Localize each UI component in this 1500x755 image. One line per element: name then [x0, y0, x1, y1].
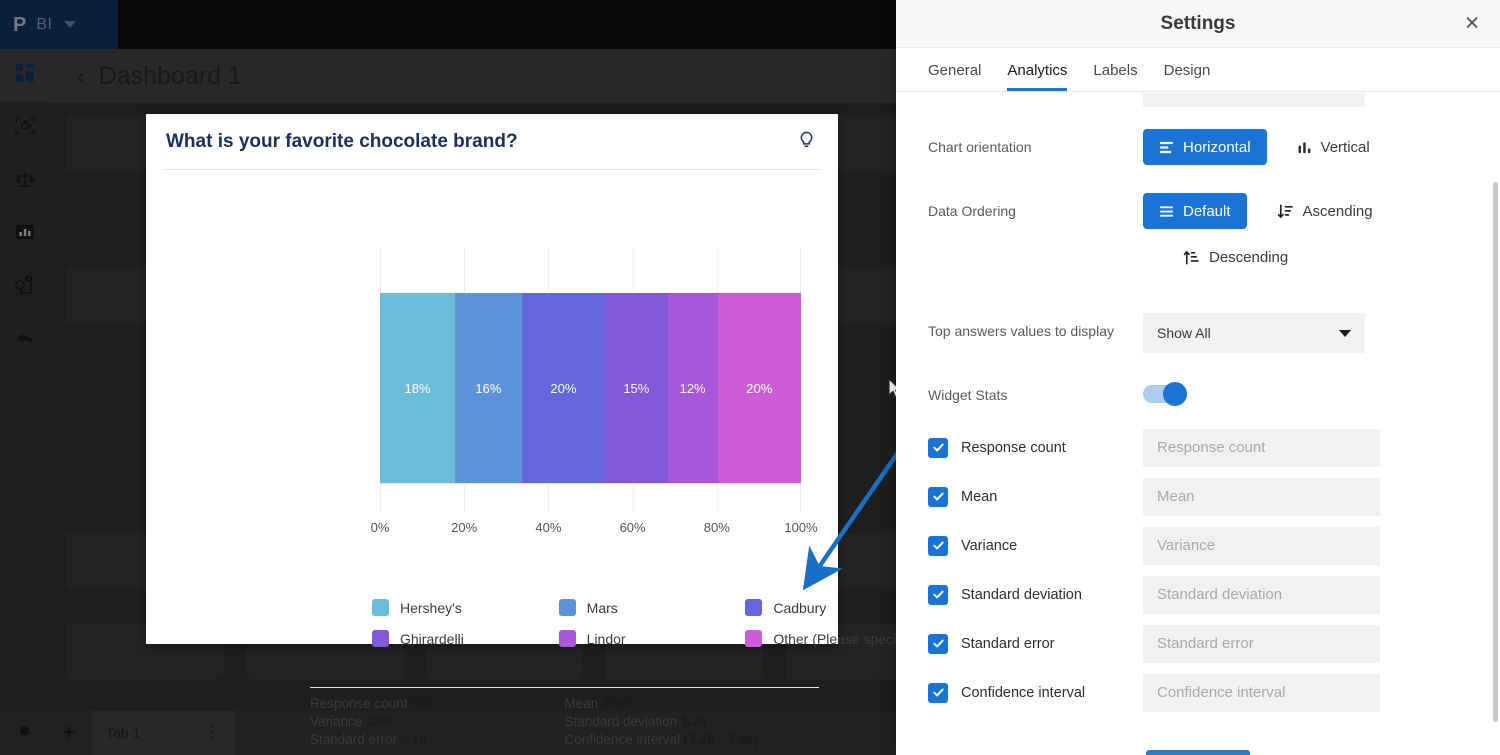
- legend-swatch: [372, 630, 389, 647]
- stacked-bar-series: 18%16%20%15%12%20%: [380, 293, 801, 483]
- checkbox-checked-icon: [928, 634, 948, 654]
- bar-segment[interactable]: 12%: [668, 293, 718, 483]
- stat-label: Variance: [310, 714, 366, 729]
- stat-line: Standard deviation 1.75: [565, 714, 820, 729]
- checkbox-checked-icon: [928, 438, 948, 458]
- stat-setting-row: Standard deviation: [928, 570, 1468, 619]
- stat-checkbox-label: Confidence interval: [961, 685, 1085, 701]
- stats-column-right: Mean 3.46Standard deviation 1.75Confiden…: [565, 696, 820, 747]
- stat-line: Confidence interval [3.26 - 3.66]: [565, 732, 820, 747]
- stat-line: Variance 3.08: [310, 714, 565, 729]
- stat-checkbox-response-count[interactable]: Response count: [928, 438, 1143, 458]
- widget-stats-rows: Response countMeanVarianceStandard devia…: [928, 423, 1468, 717]
- stat-alias-input-response-count[interactable]: [1143, 429, 1380, 467]
- top-answers-control: Show All: [1143, 313, 1468, 353]
- legend-item[interactable]: Lindor: [559, 630, 746, 647]
- orientation-option-horizontal[interactable]: Horizontal: [1143, 129, 1267, 165]
- x-axis-tick-label: 40%: [535, 520, 561, 535]
- widget-header: What is your favorite chocolate brand?: [146, 114, 838, 169]
- stat-line: Mean 3.46: [565, 696, 820, 711]
- x-axis-tick-label: 60%: [620, 520, 646, 535]
- stat-alias-input-confidence-interval[interactable]: [1143, 674, 1380, 712]
- clipped-setting-row: [928, 93, 1468, 107]
- stats-column-left: Response count 300Variance 3.08Standard …: [310, 696, 565, 747]
- tab-design[interactable]: Design: [1164, 62, 1211, 91]
- setting-row-data-ordering: Data Ordering Default Ascending: [928, 193, 1468, 275]
- stat-setting-row: Confidence interval: [928, 668, 1468, 717]
- legend-label: Cadbury: [773, 600, 826, 616]
- stat-label: Response count: [310, 696, 411, 711]
- x-axis-tick-label: 0%: [371, 520, 390, 535]
- stat-value: 1.75: [681, 714, 707, 729]
- bar-segment[interactable]: 20%: [522, 293, 605, 483]
- chart-plot: 18%16%20%15%12%20%: [380, 248, 801, 512]
- legend-swatch: [559, 599, 576, 616]
- stat-value: 3.46: [602, 696, 628, 711]
- data-ordering-label: Data Ordering: [928, 193, 1143, 219]
- settings-panel-body: Chart orientation Horizontal Vertical: [896, 93, 1500, 755]
- bar-segment[interactable]: 16%: [455, 293, 522, 483]
- close-icon[interactable]: ✕: [1464, 14, 1480, 33]
- top-answers-value: Show All: [1157, 325, 1211, 341]
- list-lines-icon: [1159, 204, 1174, 219]
- x-axis-tick-label: 100%: [784, 520, 817, 535]
- tab-general[interactable]: General: [928, 62, 981, 91]
- checkbox-checked-icon: [928, 585, 948, 605]
- stat-checkbox-label: Response count: [961, 440, 1066, 456]
- x-axis-tick-label: 20%: [451, 520, 477, 535]
- stat-value: 3.08: [366, 714, 392, 729]
- stat-checkbox-label: Standard error: [961, 636, 1055, 652]
- legend-item[interactable]: Mars: [559, 599, 746, 616]
- orientation-horizontal-label: Horizontal: [1183, 139, 1251, 156]
- stat-checkbox-variance[interactable]: Variance: [928, 536, 1143, 556]
- stat-alias-input-standard-error[interactable]: [1143, 625, 1380, 663]
- settings-panel-header: Settings ✕: [896, 0, 1500, 48]
- setting-row-chart-orientation: Chart orientation Horizontal Vertical: [928, 129, 1468, 171]
- widget-footer-divider: [310, 687, 819, 688]
- apply-button-partial[interactable]: [1146, 750, 1250, 755]
- stat-setting-row: Standard error: [928, 619, 1468, 668]
- stat-setting-row: Mean: [928, 472, 1468, 521]
- chevron-down-icon: [1339, 330, 1351, 337]
- legend-swatch: [372, 599, 389, 616]
- tab-labels[interactable]: Labels: [1093, 62, 1137, 91]
- app-root: P BI: [0, 0, 1500, 755]
- ordering-default-label: Default: [1183, 203, 1231, 220]
- legend-label: Hershey's: [400, 600, 462, 616]
- widget-stats-label: Widget Stats: [928, 385, 1143, 403]
- chart-plot-area: 18%16%20%15%12%20% 0%20%40%60%80%100%: [166, 170, 818, 510]
- ordering-option-default[interactable]: Default: [1143, 193, 1247, 229]
- legend-label: Other (Please specify): [773, 631, 912, 647]
- x-axis-ticks: 0%20%40%60%80%100%: [380, 520, 801, 538]
- legend-swatch: [745, 599, 762, 616]
- stat-checkbox-label: Variance: [961, 538, 1017, 554]
- ordering-option-descending[interactable]: Descending: [1167, 239, 1304, 275]
- stat-value: [3.26 - 3.66]: [684, 732, 758, 747]
- stat-checkbox-confidence-interval[interactable]: Confidence interval: [928, 683, 1143, 703]
- tab-analytics[interactable]: Analytics: [1007, 62, 1067, 91]
- settings-panel: Settings ✕ GeneralAnalyticsLabelsDesign …: [896, 0, 1500, 755]
- stat-alias-input-standard-deviation[interactable]: [1143, 576, 1380, 614]
- sort-descending-icon: [1183, 249, 1200, 266]
- legend-label: Lindor: [587, 631, 626, 647]
- setting-row-widget-stats: Widget Stats: [928, 385, 1468, 409]
- chart-orientation-options: Horizontal Vertical: [1143, 129, 1468, 165]
- settings-panel-scrollbar[interactable]: [1493, 182, 1498, 722]
- stat-label: Standard error: [310, 732, 401, 747]
- orientation-option-vertical[interactable]: Vertical: [1281, 129, 1386, 165]
- sort-ascending-icon: [1277, 203, 1294, 220]
- top-answers-select[interactable]: Show All: [1143, 313, 1365, 353]
- stat-line: Response count 300: [310, 696, 565, 711]
- chart-widget-card: What is your favorite chocolate brand? 1…: [146, 114, 838, 644]
- stat-setting-row: Variance: [928, 521, 1468, 570]
- stat-label: Mean: [565, 696, 603, 711]
- stat-checkbox-label: Mean: [961, 489, 997, 505]
- bar-segment[interactable]: 15%: [605, 293, 668, 483]
- widget-stats-toggle[interactable]: [1143, 385, 1187, 403]
- orientation-vertical-label: Vertical: [1321, 139, 1370, 156]
- widget-stats-control: [1143, 385, 1468, 403]
- chart-legend: Hershey'sMarsCadburyGhirardelliLindorOth…: [372, 599, 932, 647]
- plot-bottom-border: [380, 483, 801, 484]
- stat-checkbox-standard-error[interactable]: Standard error: [928, 634, 1143, 654]
- legend-label: Mars: [587, 600, 618, 616]
- settings-title: Settings: [1161, 13, 1236, 35]
- top-answers-label: Top answers values to display: [928, 313, 1143, 339]
- stat-checkbox-label: Standard deviation: [961, 587, 1082, 603]
- chart-orientation-label: Chart orientation: [928, 129, 1143, 155]
- stat-value: 300: [411, 696, 434, 711]
- stat-alias-input-variance[interactable]: [1143, 527, 1380, 565]
- checkbox-checked-icon: [928, 536, 948, 556]
- vertical-bars-icon: [1297, 140, 1312, 155]
- x-axis-tick-label: 80%: [704, 520, 730, 535]
- lightbulb-icon[interactable]: [797, 130, 816, 153]
- ordering-ascending-label: Ascending: [1303, 203, 1373, 220]
- legend-item[interactable]: Hershey's: [372, 599, 559, 616]
- stat-checkbox-mean[interactable]: Mean: [928, 487, 1143, 507]
- toggle-knob: [1163, 382, 1187, 406]
- setting-row-top-answers: Top answers values to display Show All: [928, 313, 1468, 355]
- settings-tabs: GeneralAnalyticsLabelsDesign: [896, 48, 1500, 92]
- stat-setting-row: Response count: [928, 423, 1468, 472]
- widget-stats-footer: Response count 300Variance 3.08Standard …: [310, 696, 819, 747]
- legend-label: Ghirardelli: [400, 631, 464, 647]
- stat-label: Confidence interval: [565, 732, 684, 747]
- horizontal-bars-icon: [1159, 140, 1174, 155]
- bar-segment[interactable]: 20%: [718, 293, 801, 483]
- stat-checkbox-standard-deviation[interactable]: Standard deviation: [928, 585, 1143, 605]
- legend-item[interactable]: Ghirardelli: [372, 630, 559, 647]
- widget-title: What is your favorite chocolate brand?: [166, 131, 518, 153]
- bar-segment[interactable]: 18%: [380, 293, 455, 483]
- stat-line: Standard error 0.10: [310, 732, 565, 747]
- legend-swatch: [559, 630, 576, 647]
- stat-label: Standard deviation: [565, 714, 681, 729]
- checkbox-checked-icon: [928, 683, 948, 703]
- ordering-option-ascending[interactable]: Ascending: [1261, 193, 1389, 229]
- checkbox-checked-icon: [928, 487, 948, 507]
- stat-value: 0.10: [401, 732, 427, 747]
- data-ordering-options: Default Ascending Descending: [1143, 193, 1468, 275]
- ordering-descending-label: Descending: [1209, 249, 1288, 266]
- clipped-setting-field[interactable]: [1143, 93, 1365, 107]
- legend-swatch: [745, 630, 762, 647]
- stat-alias-input-mean[interactable]: [1143, 478, 1380, 516]
